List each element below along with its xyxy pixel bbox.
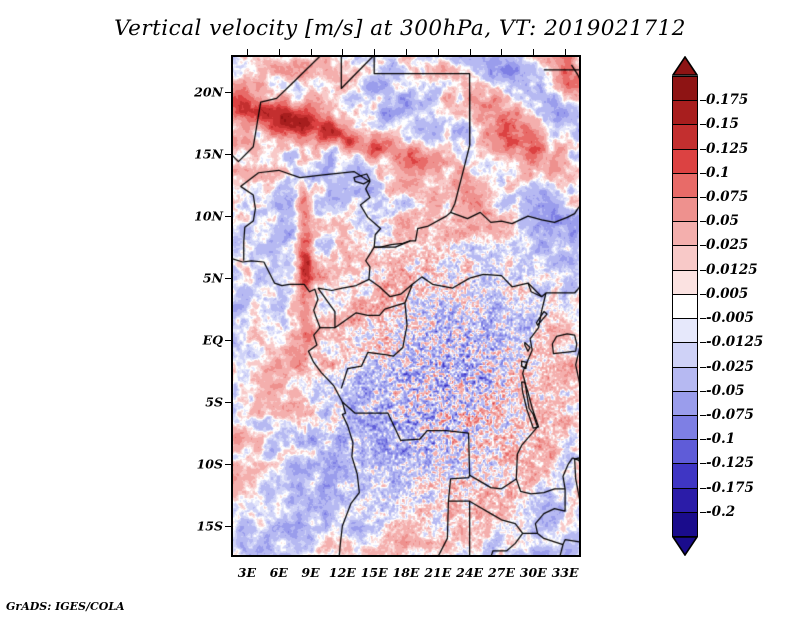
lat-tick-label: EQ xyxy=(203,333,223,348)
colorbar-swatch xyxy=(672,294,698,320)
colorbar-under-arrow xyxy=(672,536,698,556)
colorbar-swatch xyxy=(672,270,698,296)
colorbar-tick-mark xyxy=(700,512,706,513)
colorbar-swatch xyxy=(672,100,698,126)
lat-tick-mark xyxy=(225,340,231,341)
colorbar-tick-mark xyxy=(700,367,706,368)
colorbar-swatch xyxy=(672,512,698,538)
lat-tick-label: 20N xyxy=(194,85,223,100)
colorbar-swatch xyxy=(672,173,698,199)
lat-tick-mark xyxy=(225,92,231,93)
colorbar-swatch xyxy=(672,149,698,175)
footer-credit: GrADS: IGES/COLA xyxy=(6,600,125,613)
lon-tick-label: 9E xyxy=(301,565,319,580)
colorbar-swatch xyxy=(672,245,698,271)
lon-tick-label: 15E xyxy=(361,565,388,580)
colorbar-tick-mark xyxy=(700,439,706,440)
lat-tick-label: 15N xyxy=(194,147,223,162)
colorbar-tick-mark xyxy=(700,149,706,150)
colorbar-swatch xyxy=(672,415,698,441)
lat-tick-label: 5S xyxy=(205,395,223,410)
colorbar-label: -0.0125 xyxy=(706,334,763,350)
page-title: Vertical velocity [m/s] at 300hPa, VT: 2… xyxy=(0,16,800,41)
lon-tick-label: 24E xyxy=(456,565,483,580)
lat-tick-label: 5N xyxy=(203,271,223,286)
colorbar-label: 0.005 xyxy=(706,286,748,302)
colorbar-label: 0.0125 xyxy=(706,262,758,278)
colorbar-label: 0.175 xyxy=(706,92,748,108)
colorbar-swatch xyxy=(672,488,698,514)
lat-tick-mark xyxy=(225,278,231,279)
lon-tick-mark xyxy=(406,49,407,55)
colorbar-label: -0.025 xyxy=(706,359,754,375)
colorbar-swatch xyxy=(672,439,698,465)
colorbar-label: -0.175 xyxy=(706,480,754,496)
colorbar-label: 0.15 xyxy=(706,116,739,132)
map-plot-area: 20N15N10N5NEQ5S10S15S 3E6E9E12E15E18E21E… xyxy=(231,55,581,557)
lat-tick-label: 15S xyxy=(197,519,223,534)
colorbar-swatch xyxy=(672,367,698,393)
colorbar-label: 0.05 xyxy=(706,213,739,229)
colorbar-swatch xyxy=(672,391,698,417)
lon-tick-mark xyxy=(438,49,439,55)
lon-tick-mark xyxy=(470,49,471,55)
lon-tick-label: 3E xyxy=(238,565,256,580)
lat-tick-mark xyxy=(225,402,231,403)
colorbar-label: 0.125 xyxy=(706,141,748,157)
colorbar-tick-mark xyxy=(700,173,706,174)
lat-tick-mark xyxy=(225,464,231,465)
lon-tick-label: 18E xyxy=(393,565,420,580)
lat-tick-mark xyxy=(225,526,231,527)
colorbar-tick-mark xyxy=(700,100,706,101)
colorbar-swatch xyxy=(672,463,698,489)
colorbar-label: 0.1 xyxy=(706,165,730,181)
colorbar-tick-mark xyxy=(700,124,706,125)
lon-tick-mark xyxy=(533,49,534,55)
lon-tick-mark xyxy=(279,49,280,55)
colorbar-label: -0.2 xyxy=(706,504,735,520)
lat-tick-label: 10S xyxy=(197,457,223,472)
colorbar-label: -0.1 xyxy=(706,431,735,447)
vertical-velocity-field xyxy=(231,55,581,557)
lon-tick-mark xyxy=(311,49,312,55)
colorbar-label: 0.075 xyxy=(706,189,748,205)
colorbar-tick-mark xyxy=(700,488,706,489)
colorbar-tick-mark xyxy=(700,415,706,416)
lon-tick-label: 12E xyxy=(329,565,356,580)
colorbar-swatch xyxy=(672,342,698,368)
lon-tick-mark xyxy=(342,49,343,55)
lon-tick-label: 27E xyxy=(488,565,515,580)
colorbar-label: -0.125 xyxy=(706,455,754,471)
lat-tick-label: 10N xyxy=(194,209,223,224)
colorbar-tick-mark xyxy=(700,197,706,198)
colorbar: 0.1750.150.1250.10.0750.050.0250.01250.0… xyxy=(672,56,698,556)
colorbar-tick-mark xyxy=(700,342,706,343)
lat-tick-mark xyxy=(225,216,231,217)
colorbar-tick-mark xyxy=(700,294,706,295)
colorbar-label: -0.05 xyxy=(706,383,744,399)
lon-tick-label: 33E xyxy=(552,565,579,580)
colorbar-swatch xyxy=(672,76,698,102)
lon-tick-label: 21E xyxy=(424,565,451,580)
colorbar-swatch xyxy=(672,318,698,344)
lon-tick-label: 30E xyxy=(520,565,547,580)
colorbar-label: -0.075 xyxy=(706,407,754,423)
colorbar-label: 0.025 xyxy=(706,237,748,253)
colorbar-tick-mark xyxy=(700,318,706,319)
colorbar-swatch xyxy=(672,197,698,223)
colorbar-swatch xyxy=(672,221,698,247)
lon-tick-mark xyxy=(565,49,566,55)
colorbar-swatch xyxy=(672,124,698,150)
lon-tick-mark xyxy=(501,49,502,55)
lon-tick-mark xyxy=(247,49,248,55)
colorbar-tick-mark xyxy=(700,245,706,246)
colorbar-tick-mark xyxy=(700,391,706,392)
colorbar-tick-mark xyxy=(700,463,706,464)
lon-tick-label: 6E xyxy=(270,565,288,580)
colorbar-tick-mark xyxy=(700,270,706,271)
colorbar-tick-mark xyxy=(700,221,706,222)
colorbar-over-arrow xyxy=(672,56,698,76)
lat-tick-mark xyxy=(225,154,231,155)
colorbar-label: -0.005 xyxy=(706,310,754,326)
lon-tick-mark xyxy=(374,49,375,55)
